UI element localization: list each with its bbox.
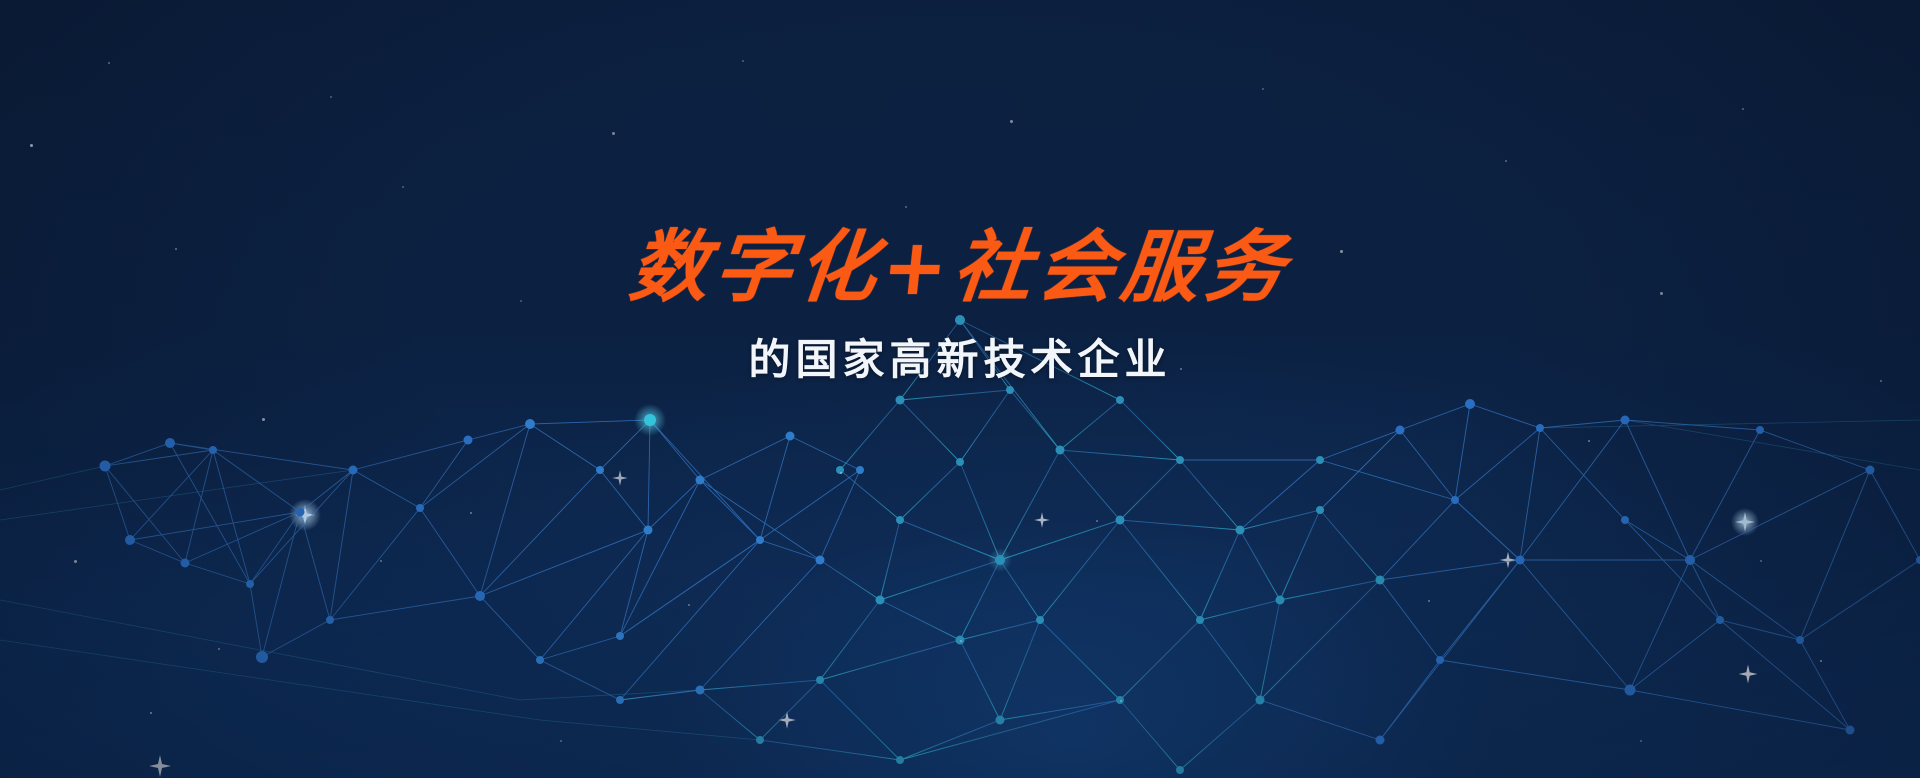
banner-headline: 数字化+社会服务: [0, 226, 1920, 310]
banner-text-block: 数字化+社会服务 的国家高新技术企业: [0, 226, 1920, 387]
network-mesh: [0, 0, 1920, 778]
hero-banner: 数字化+社会服务 的国家高新技术企业: [0, 0, 1920, 778]
banner-subtitle: 的国家高新技术企业: [0, 326, 1920, 387]
